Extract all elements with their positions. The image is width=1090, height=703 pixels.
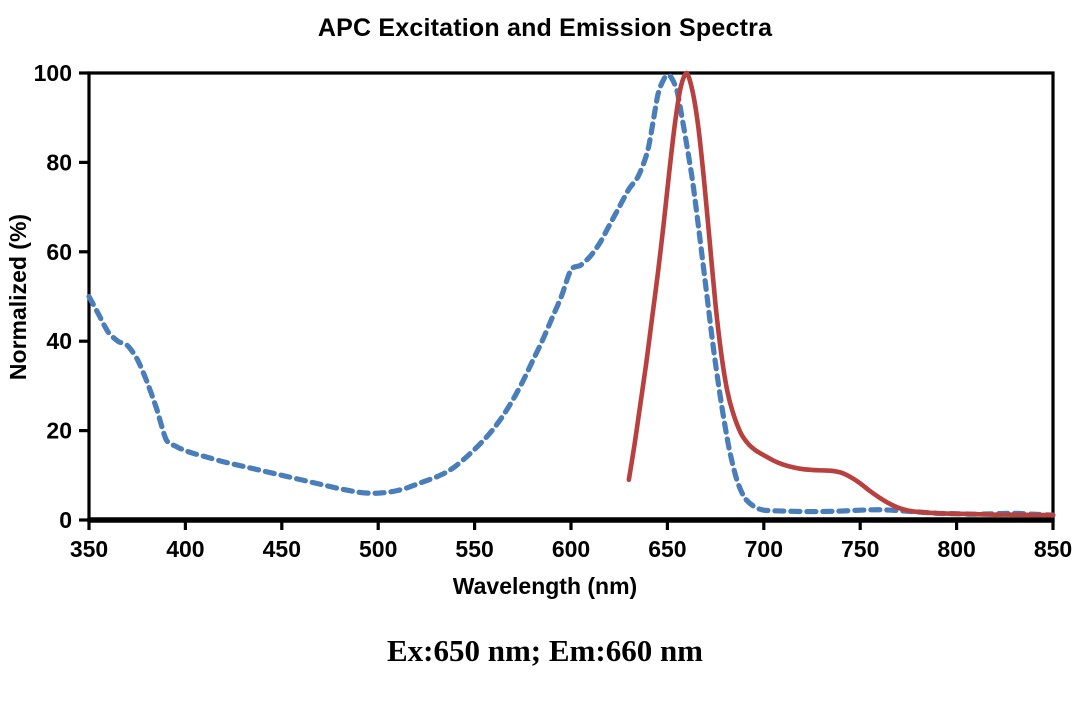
chart-figure: APC Excitation and Emission Spectra 3504…	[0, 0, 1090, 703]
y-tick-label: 40	[46, 328, 72, 354]
x-tick-label: 750	[841, 536, 879, 562]
x-tick-label: 800	[937, 536, 975, 562]
y-tick-label: 100	[34, 60, 72, 86]
x-axis-ticks: 350400450500550600650700750800850	[70, 520, 1072, 562]
x-tick-label: 500	[359, 536, 397, 562]
x-tick-label: 400	[166, 536, 204, 562]
series-line-excitation	[89, 75, 1053, 515]
y-tick-label: 80	[46, 149, 72, 175]
y-tick-label: 0	[59, 507, 72, 533]
series-layer	[89, 73, 1053, 515]
series-line-emission	[629, 73, 1053, 515]
x-tick-label: 600	[552, 536, 590, 562]
x-tick-label: 450	[263, 536, 301, 562]
x-tick-label: 550	[455, 536, 493, 562]
plot-frame	[87, 73, 1054, 520]
chart-caption: Ex:650 nm; Em:660 nm	[0, 633, 1090, 669]
spectra-plot: 350400450500550600650700750800850 020406…	[0, 0, 1090, 703]
y-axis-ticks: 020406080100	[34, 60, 89, 533]
y-axis-title: Normalized (%)	[5, 214, 31, 380]
y-tick-label: 20	[46, 418, 72, 444]
x-tick-label: 700	[745, 536, 783, 562]
y-tick-label: 60	[46, 239, 72, 265]
x-tick-label: 350	[70, 536, 108, 562]
x-axis-title: Wavelength (nm)	[453, 573, 637, 599]
x-tick-label: 850	[1034, 536, 1072, 562]
x-tick-label: 650	[648, 536, 686, 562]
